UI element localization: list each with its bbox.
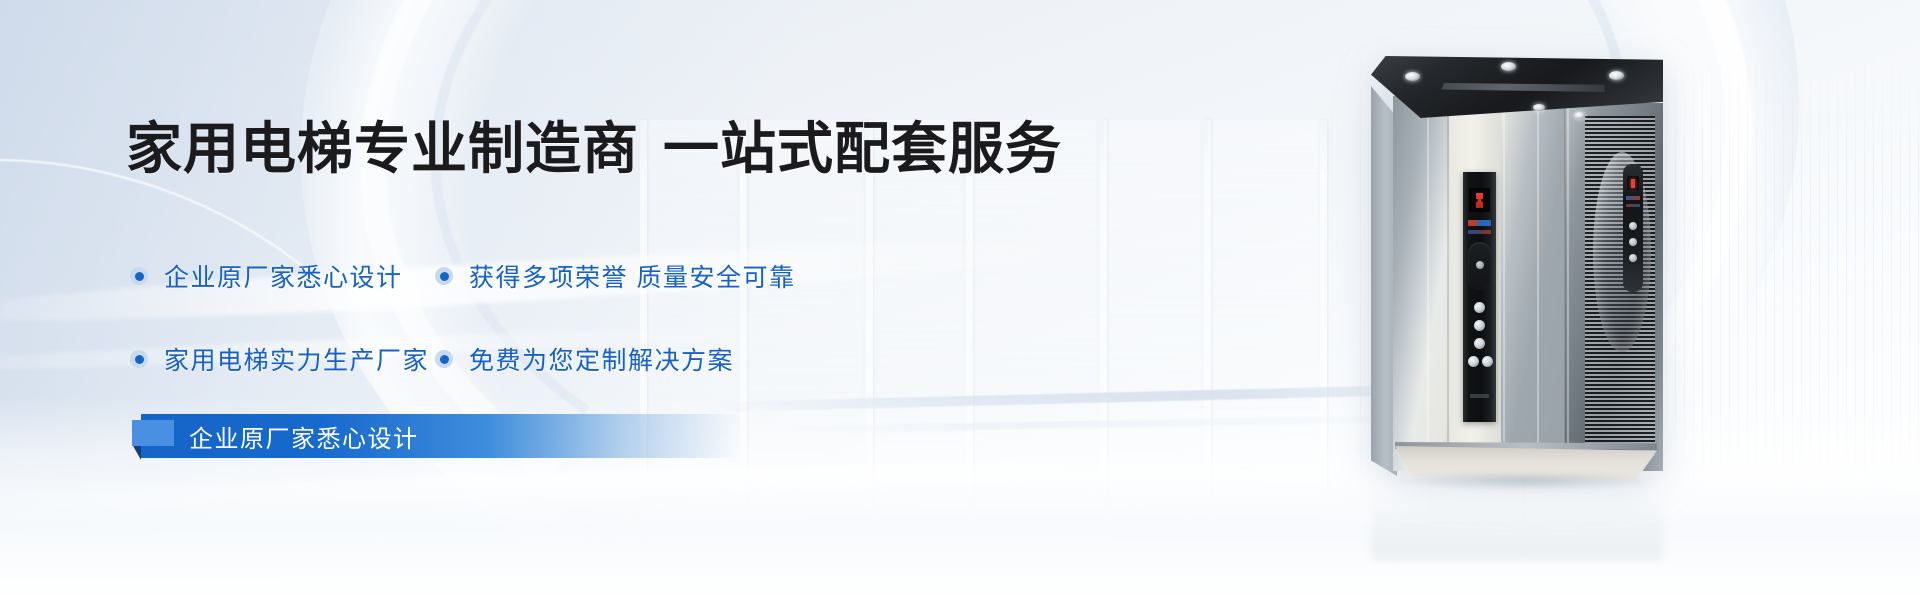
ceiling-spot-light <box>1574 112 1585 119</box>
cabin-wall-seam <box>1567 102 1569 468</box>
feature-label: 获得多项荣誉 质量安全可靠 <box>469 258 795 294</box>
control-panel-sub-label <box>1468 230 1491 234</box>
elevator-cabin-image <box>1371 56 1663 480</box>
ribbon-fold-icon <box>132 444 141 460</box>
bullet-dot-icon <box>130 267 148 285</box>
elevator-control-panel <box>1463 172 1496 422</box>
mirrored-brand-label <box>1626 196 1640 200</box>
cabin-wall-seam <box>1503 102 1505 468</box>
door-open-button <box>1468 356 1479 367</box>
cabin-wall-seam <box>1427 102 1429 468</box>
banner-content: 家用电梯专业制造商一站式配套服务 企业原厂家悉心设计 获得多项荣誉 质量安全可靠… <box>0 0 1400 600</box>
feature-label: 企业原厂家悉心设计 <box>164 258 403 294</box>
feature-label: 家用电梯实力生产厂家 <box>164 341 429 377</box>
ceiling-spot-light <box>1501 62 1516 71</box>
feature-label: 免费为您定制解决方案 <box>469 341 734 377</box>
highlight-ribbon[interactable]: 企业原厂家悉心设计 <box>141 414 741 458</box>
feature-item: 获得多项荣誉 质量安全可靠 <box>435 258 795 294</box>
floor-button <box>1474 320 1485 331</box>
cabin-mirrored-control-panel <box>1623 164 1643 292</box>
feature-item: 企业原厂家悉心设计 <box>130 258 435 294</box>
banner-headline: 家用电梯专业制造商一站式配套服务 <box>126 121 1062 177</box>
feature-row: 企业原厂家悉心设计 获得多项荣誉 质量安全可靠 <box>130 258 1030 294</box>
control-panel-speaker <box>1468 242 1491 290</box>
feature-list: 企业原厂家悉心设计 获得多项荣誉 质量安全可靠 家用电梯实力生产厂家 免费为您定… <box>130 258 1030 377</box>
ceiling-spot-light <box>1533 104 1545 111</box>
control-panel-logo-plate <box>1470 394 1489 398</box>
bullet-dot-icon <box>435 267 453 285</box>
ribbon-label: 企业原厂家悉心设计 <box>189 419 419 454</box>
cabin-wall-seam <box>1537 102 1539 468</box>
mirrored-brand-sublabel <box>1626 204 1640 207</box>
feature-row: 家用电梯实力生产厂家 免费为您定制解决方案 <box>130 341 1030 377</box>
mirrored-floor-display <box>1627 176 1639 190</box>
feature-item: 家用电梯实力生产厂家 <box>130 341 435 377</box>
floor-button <box>1474 338 1485 349</box>
mirrored-button <box>1629 254 1637 262</box>
ceiling-spot-light <box>1609 71 1624 80</box>
cabin-ground-shadow <box>1391 474 1659 490</box>
floor-button <box>1474 302 1485 313</box>
bullet-dot-icon <box>130 350 148 368</box>
control-panel-brand-label <box>1468 220 1491 226</box>
feature-item: 免费为您定制解决方案 <box>435 341 734 377</box>
ribbon-marker-icon <box>132 420 174 446</box>
floor-indicator-digit <box>1476 193 1483 208</box>
mirrored-button <box>1629 222 1637 230</box>
floor-indicator-screen <box>1469 188 1490 212</box>
hero-banner: 家用电梯专业制造商一站式配套服务 企业原厂家悉心设计 获得多项荣誉 质量安全可靠… <box>0 0 1920 600</box>
cabin-wall-seam <box>1447 104 1449 466</box>
bullet-dot-icon <box>435 350 453 368</box>
elevator-floor-reflection <box>1371 480 1663 560</box>
cabin-wall-seam <box>1564 104 1566 466</box>
headline-part-2: 一站式配套服务 <box>663 117 1062 180</box>
ceiling-spot-light <box>1405 72 1420 81</box>
headline-part-1: 家用电梯专业制造商 <box>126 117 639 180</box>
mirrored-button <box>1629 238 1637 246</box>
door-close-button <box>1482 356 1493 367</box>
